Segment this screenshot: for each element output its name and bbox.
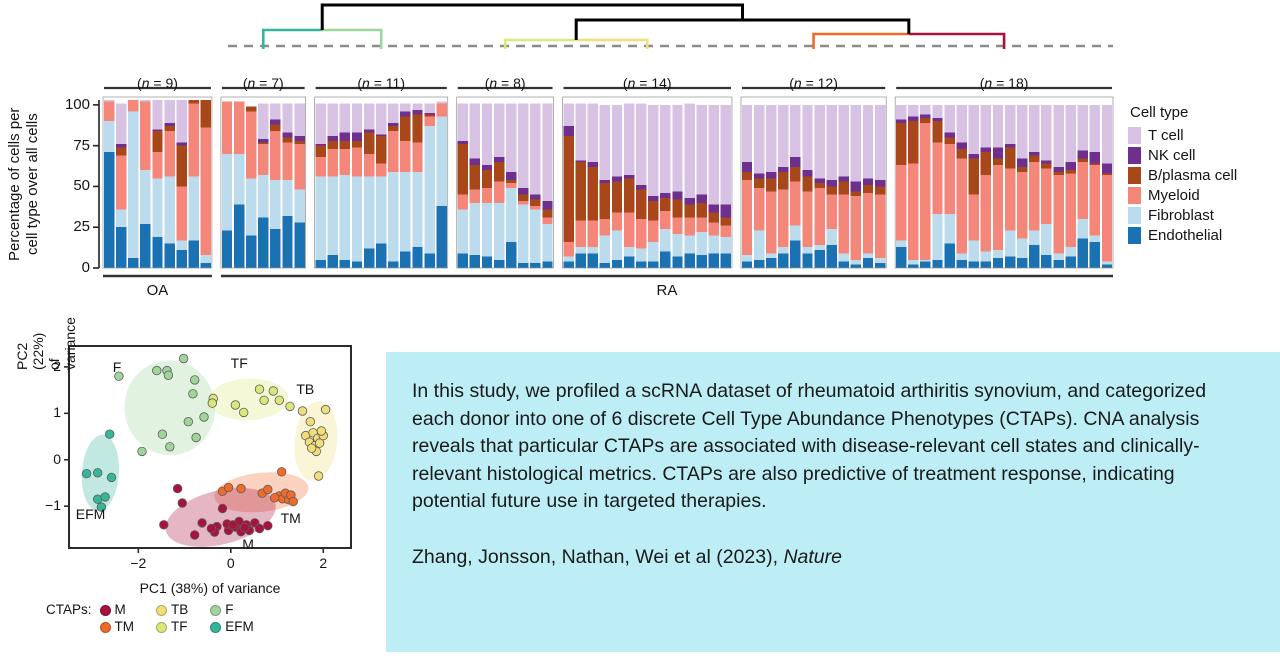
legend-title: Cell type <box>1130 104 1278 121</box>
legend-item-myeloid: Myeloid <box>1128 185 1278 205</box>
legend-label: Fibroblast <box>1148 207 1214 224</box>
legend-swatch <box>1128 127 1141 144</box>
y-tick-0: 0 <box>48 259 90 276</box>
citation-journal: Nature <box>783 546 842 568</box>
legend-swatch <box>1128 167 1141 184</box>
condition-label-oa: OA <box>117 282 197 299</box>
summary-body: In this study, we profiled a scRNA datas… <box>412 378 1250 516</box>
ctap-legend-dot <box>100 622 111 633</box>
pca-x-tick-2: 2 <box>303 555 343 571</box>
group-n-label: (n = 12) <box>759 75 869 91</box>
dendrogram <box>228 5 1113 49</box>
pca-y-tick-2: 2 <box>23 358 61 374</box>
legend-swatch <box>1128 187 1141 204</box>
ctap-legend-row: CTAPs:MTBF <box>44 601 274 618</box>
legend-rows: T cellNK cellB/plasma cellMyeloidFibrobl… <box>1128 125 1278 245</box>
y-axis-title: Percentage of cells percell type over al… <box>6 96 46 272</box>
group-n-label: (n = 8) <box>450 75 560 91</box>
group-n-label: (n = 9) <box>102 75 212 91</box>
pca-x-tick-0: 0 <box>211 555 251 571</box>
ctap-legend-label: TM <box>115 619 135 634</box>
condition-label-ra: RA <box>627 282 707 299</box>
group-n-label: (n = 11) <box>326 75 436 91</box>
group-n-label: (n = 18) <box>949 75 1059 91</box>
y-tick-25: 25 <box>48 218 90 235</box>
y-tick-100: 100 <box>48 96 90 113</box>
pca-y-tick-1: 1 <box>23 404 61 420</box>
legend-item-nk-cell: NK cell <box>1128 145 1278 165</box>
pca-cluster-label-tb: TB <box>296 381 314 397</box>
legend-label: T cell <box>1148 127 1184 144</box>
ctap-legend-label: EFM <box>225 619 254 634</box>
legend-label: Myeloid <box>1148 187 1200 204</box>
ctap-legend-table: CTAPs:MTBFTMTFEFM <box>44 601 274 635</box>
pca-cluster-label-tm: TM <box>281 510 301 526</box>
bar-chart-svg <box>0 0 1280 320</box>
citation-authors: Zhang, Jonsson, Nathan, Wei et al (2023)… <box>412 546 783 568</box>
ctap-legend-item-efm: EFM <box>208 618 274 635</box>
figure-root: Percentage of cells percell type over al… <box>0 0 1280 658</box>
ctap-legend-dot <box>156 622 167 633</box>
ctap-legend-label: TF <box>171 619 188 634</box>
ctap-legend-dot <box>210 622 221 633</box>
ctap-legend-dot <box>156 605 167 616</box>
ctap-legend-label: TB <box>171 602 188 617</box>
legend-item-endothelial: Endothelial <box>1128 225 1278 245</box>
legend-swatch <box>1128 227 1141 244</box>
ctap-legend-item-tb: TB <box>154 601 208 618</box>
ctap-legend-label: F <box>225 602 233 617</box>
ctap-legend-dot <box>210 605 221 616</box>
cell-type-legend: Cell type T cellNK cellB/plasma cellMyel… <box>1128 104 1278 245</box>
cell-type-abundance-bar-figure: Percentage of cells percell type over al… <box>0 0 1280 320</box>
ctap-legend-dot <box>100 605 111 616</box>
ctap-legend-item-tm: TM <box>98 618 155 635</box>
legend-swatch <box>1128 147 1141 164</box>
legend-label: B/plasma cell <box>1148 167 1237 184</box>
pca-cluster-label-efm: EFM <box>76 506 106 522</box>
pca-cluster-label-tf: TF <box>231 355 248 371</box>
citation: Zhang, Jonsson, Nathan, Wei et al (2023)… <box>412 544 1250 572</box>
ctap-legend-title: CTAPs: <box>44 601 98 618</box>
pca-x-axis-label: PC1 (38%) of variance <box>29 580 391 596</box>
legend-swatch <box>1128 207 1141 224</box>
ctap-legend-label: M <box>115 602 126 617</box>
ctap-legend-item-f: F <box>208 601 274 618</box>
y-tick-50: 50 <box>48 177 90 194</box>
group-n-label: (n = 7) <box>208 75 318 91</box>
legend-label: Endothelial <box>1148 227 1222 244</box>
legend-item-t-cell: T cell <box>1128 125 1278 145</box>
pca-y-tick-0: 0 <box>23 451 61 467</box>
pca-y-tick--1: −1 <box>23 497 61 513</box>
group-n-label: (n = 14) <box>592 75 702 91</box>
study-summary-panel: In this study, we profiled a scRNA datas… <box>386 352 1280 652</box>
legend-item-fibroblast: Fibroblast <box>1128 205 1278 225</box>
ctap-legend-title-spacer <box>44 618 98 635</box>
ctap-legend-item-m: M <box>98 601 155 618</box>
legend-item-b-plasma-cell: B/plasma cell <box>1128 165 1278 185</box>
y-tick-75: 75 <box>48 137 90 154</box>
bar-panels <box>103 97 1113 268</box>
pca-x-tick--2: −2 <box>118 555 158 571</box>
pca-cluster-label-m: M <box>242 536 254 552</box>
ctap-legend-item-tf: TF <box>154 618 208 635</box>
pca-cluster-label-f: F <box>113 359 122 375</box>
ctap-legend-row: TMTFEFM <box>44 618 274 635</box>
ctap-legend: CTAPs:MTBFTMTFEFM <box>44 601 344 635</box>
legend-label: NK cell <box>1148 147 1196 164</box>
